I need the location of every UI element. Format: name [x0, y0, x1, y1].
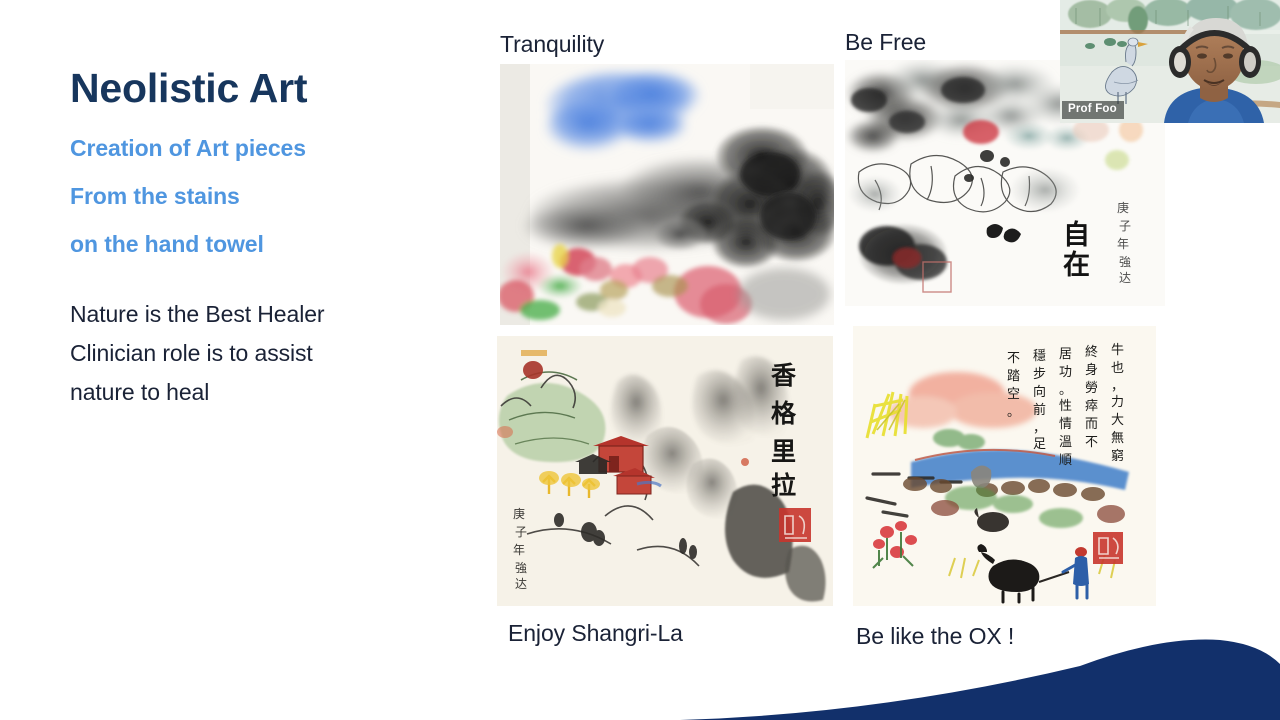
caption-be-like-the-ox: Be like the OX !: [856, 623, 1014, 650]
svg-text:里: 里: [771, 437, 796, 466]
svg-text:也: 也: [1111, 361, 1124, 376]
svg-text:子: 子: [1119, 219, 1131, 233]
svg-text:自: 自: [1063, 219, 1090, 251]
svg-text:穩: 穩: [1033, 349, 1046, 364]
svg-text:瘁: 瘁: [1085, 398, 1098, 414]
svg-text:。: 。: [1007, 405, 1020, 420]
subtitle-list: Creation of Art pieces From the stains o…: [70, 137, 470, 256]
svg-text:子: 子: [515, 525, 527, 539]
svg-text:年: 年: [513, 543, 525, 557]
svg-text:功: 功: [1059, 365, 1072, 380]
page-title: Neolistic Art: [70, 66, 470, 111]
svg-text:格: 格: [771, 399, 797, 428]
svg-text:不: 不: [1007, 351, 1020, 366]
body-text-list: Nature is the Best Healer Clinician role…: [70, 303, 470, 404]
svg-text:庚: 庚: [513, 506, 525, 521]
svg-text:，: ，: [1033, 421, 1046, 436]
caption-shangri-la: Enjoy Shangri-La: [508, 620, 683, 647]
svg-text:力: 力: [1111, 395, 1124, 410]
svg-text:香: 香: [771, 361, 796, 390]
presentation-slide: Neolistic Art Creation of Art pieces Fro…: [0, 0, 1280, 720]
body-line-2: Clinician role is to assist: [70, 342, 470, 365]
svg-text:空: 空: [1007, 387, 1020, 402]
svg-text:而: 而: [1085, 417, 1098, 432]
artwork-tranquility: [500, 64, 834, 325]
svg-text:終: 終: [1085, 344, 1098, 360]
caption-tranquility: Tranquility: [500, 31, 604, 58]
svg-text:居: 居: [1059, 347, 1072, 362]
webcam-participant-name: Prof Foo: [1062, 101, 1124, 119]
subtitle-line-2: From the stains: [70, 185, 470, 208]
svg-text:向: 向: [1033, 384, 1046, 400]
svg-text:不: 不: [1085, 435, 1098, 450]
svg-text:前: 前: [1033, 402, 1046, 418]
caption-be-free: Be Free: [845, 29, 926, 56]
svg-text:強: 強: [515, 561, 527, 575]
slide-text-column: Neolistic Art Creation of Art pieces Fro…: [70, 66, 470, 420]
svg-text:溫: 溫: [1059, 435, 1072, 450]
svg-text:在: 在: [1063, 250, 1090, 281]
svg-text:順: 順: [1059, 453, 1072, 468]
svg-text:強: 強: [1119, 255, 1131, 269]
svg-text:，: ，: [1111, 379, 1124, 394]
svg-text:年: 年: [1117, 237, 1129, 251]
artwork-be-like-the-ox: 牛也，力大無窮 終身勞瘁而不 居功。性情溫順 穩步向前，足 不踏空。: [853, 326, 1156, 606]
svg-text:。: 。: [1059, 383, 1072, 398]
svg-text:大: 大: [1111, 413, 1124, 428]
svg-text:窮: 窮: [1111, 449, 1124, 464]
body-line-1: Nature is the Best Healer: [70, 303, 470, 326]
svg-text:踏: 踏: [1007, 369, 1020, 384]
svg-text:勞: 勞: [1085, 381, 1098, 396]
svg-text:身: 身: [1085, 362, 1098, 378]
svg-text:拉: 拉: [771, 471, 796, 500]
body-line-3: nature to heal: [70, 381, 470, 404]
svg-text:步: 步: [1033, 367, 1046, 382]
svg-text:性: 性: [1059, 399, 1072, 414]
subtitle-line-1: Creation of Art pieces: [70, 137, 470, 160]
svg-text:达: 达: [1119, 271, 1131, 285]
subtitle-line-3: on the hand towel: [70, 233, 470, 256]
svg-text:庚: 庚: [1117, 200, 1129, 215]
svg-text:足: 足: [1033, 437, 1046, 452]
svg-text:無: 無: [1111, 431, 1124, 446]
svg-text:达: 达: [515, 577, 527, 591]
svg-text:情: 情: [1059, 417, 1072, 432]
artwork-shangri-la: 香 格 里 拉 庚 子 年 強 达: [497, 336, 833, 606]
svg-text:牛: 牛: [1111, 343, 1124, 358]
